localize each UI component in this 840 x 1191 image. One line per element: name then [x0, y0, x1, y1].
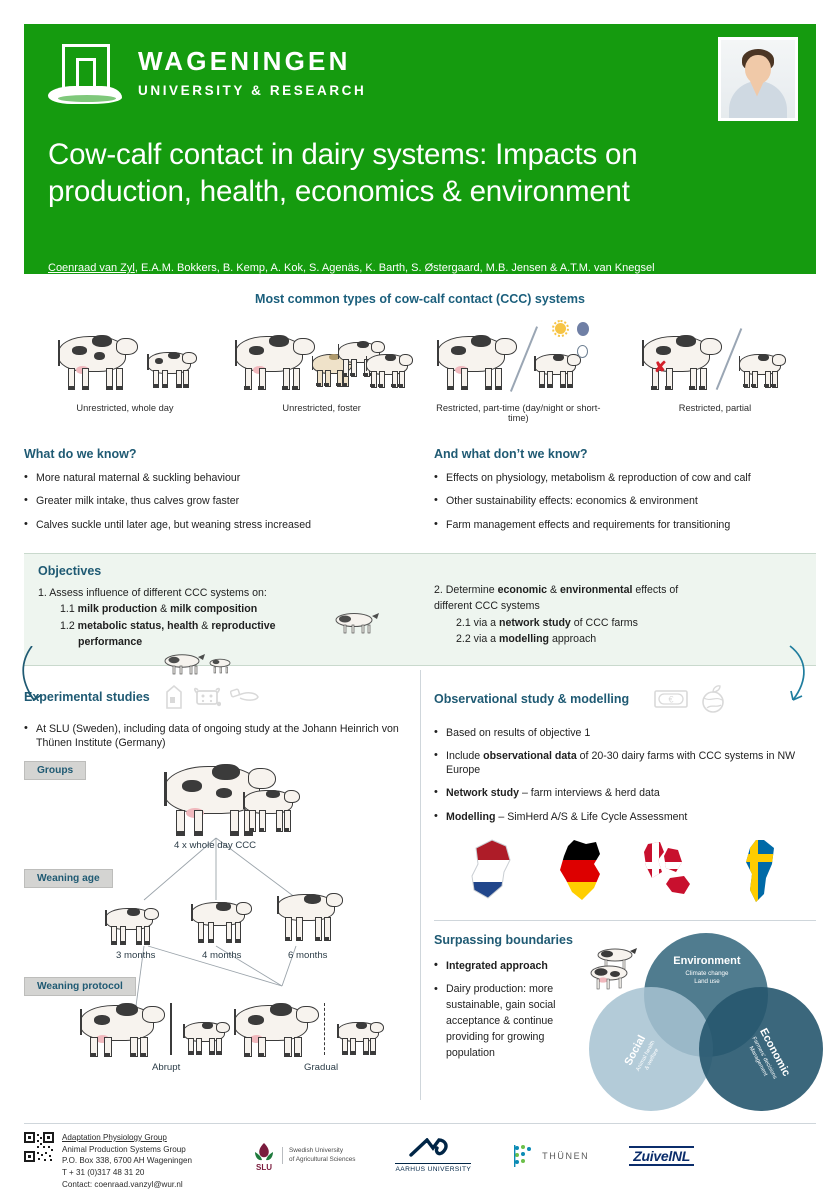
observational-study-title: Observational study & modelling — [434, 692, 629, 706]
surpassing-boundaries-title: Surpassing boundaries — [434, 933, 577, 947]
calf-icon — [274, 890, 344, 948]
list-item: Farm management effects and requirements… — [434, 518, 816, 532]
list-item: Network study – farm interviews & herd d… — [434, 786, 816, 800]
observational-header: Observational study & modelling € — [434, 684, 816, 714]
thunen-logo-text: THÜNEN — [542, 1151, 589, 1161]
denmark-map-flag-icon — [638, 838, 700, 904]
tag-groups: Groups — [24, 761, 86, 780]
cow-icon — [433, 330, 511, 392]
poster-footer: Adaptation Physiology Group Animal Produ… — [24, 1123, 816, 1191]
knowledge-row: What do we know? More natural maternal &… — [24, 447, 816, 541]
cow-front-icon — [193, 685, 221, 709]
ccc-art-2 — [231, 320, 413, 400]
calf-icon — [531, 350, 581, 392]
ccc-caption: Unrestricted, whole day — [34, 403, 216, 413]
cow-icon — [54, 330, 132, 392]
objective-2: 2. Determine economic & environmental ef… — [434, 582, 802, 598]
what-we-dont-know-list: Effects on physiology, metabolism & repr… — [434, 471, 816, 532]
calf-icon — [180, 1018, 232, 1060]
calf-icon — [334, 1018, 386, 1060]
experimental-studies-column: Experimental studies — [24, 670, 420, 1113]
weaning-age-4: 4 months — [202, 950, 241, 961]
experimental-design-diagram: Groups — [24, 760, 410, 1065]
author-portrait — [718, 37, 798, 121]
objective-1-2-cont: performance — [38, 634, 412, 650]
moon-icon — [577, 322, 589, 336]
weaning-age-3: 3 months — [116, 950, 155, 961]
page-title: Cow-calf contact in dairy systems: Impac… — [48, 136, 788, 210]
venn-center-cow-icon — [581, 933, 643, 995]
ccc-item-unrestricted-foster: Unrestricted, foster — [231, 320, 413, 423]
ccc-art-4: ✘ — [624, 320, 806, 400]
what-we-dont-know-title: And what don’t we know? — [434, 447, 816, 461]
partner-logos: SLU Swedish Universityof Agricultural Sc… — [252, 1132, 694, 1173]
objective-2-1: 2.1 via a network study of CCC farms — [434, 615, 802, 631]
list-item: More natural maternal & suckling behavio… — [24, 471, 410, 485]
mini-cow-icon — [328, 611, 384, 635]
list-item: Dairy production: more sustainable, gain… — [434, 982, 577, 1061]
tag-weaning-protocol: Weaning protocol — [24, 977, 136, 996]
observational-study-column: Observational study & modelling € — [420, 670, 816, 1113]
slu-logo-text: Swedish Universityof Agricultural Scienc… — [282, 1147, 355, 1164]
ccc-caption: Restricted, part-time (day/night or shor… — [427, 403, 609, 423]
contact-group-1: Adaptation Physiology Group — [62, 1132, 192, 1144]
cow-icon — [231, 330, 309, 392]
brand-line2: UNIVERSITY & RESEARCH — [138, 74, 366, 98]
objectives-title: Objectives — [38, 564, 412, 578]
brand-line1: WAGENINGEN — [138, 42, 366, 74]
weaning-protocol-gradual: Gradual — [304, 1062, 338, 1073]
country-flags-row — [434, 838, 816, 904]
ccc-systems-row: Unrestricted, whole day — [24, 320, 816, 423]
list-item: Calves suckle until later age, but weani… — [24, 518, 410, 532]
globe-leaf-icon — [698, 684, 728, 714]
objective-1-column: Objectives 1. Assess influence of differ… — [38, 564, 420, 651]
surpassing-boundaries-section: Surpassing boundaries Integrated approac… — [434, 933, 816, 1113]
calf-icon — [144, 348, 196, 392]
author-list: Coenraad van Zyl, E.A.M. Bokkers, B. Kem… — [48, 262, 655, 274]
list-item: Based on results of objective 1 — [434, 726, 816, 740]
sun-icon — [555, 323, 566, 334]
zuivelnl-logo-text: ZuivelNL — [629, 1146, 694, 1166]
netherlands-map-flag-icon — [462, 838, 524, 904]
svg-text:SLU: SLU — [256, 1163, 272, 1171]
euro-banknote-icon: € — [653, 687, 689, 711]
what-we-know-title: What do we know? — [24, 447, 410, 461]
zuivelnl-logo: ZuivelNL — [629, 1146, 694, 1166]
aarhus-university-logo: AARHUS UNIVERSITY — [395, 1138, 471, 1173]
list-item: Other sustainability effects: economics … — [434, 494, 816, 508]
tag-weaning-age: Weaning age — [24, 869, 113, 888]
contact-address: P.O. Box 338, 6700 AH Wageningen — [62, 1155, 192, 1167]
what-we-dont-know-column: And what don’t we know? Effects on physi… — [420, 447, 816, 541]
objective-2-cont: different CCC systems — [434, 598, 802, 614]
group-label: 4 x whole day CCC — [174, 840, 256, 851]
experimental-bullets: At SLU (Sweden), including data of ongoi… — [24, 722, 410, 751]
list-item: Integrated approach — [434, 959, 577, 973]
abrupt-barrier-icon — [170, 1003, 172, 1055]
calf-icon — [102, 904, 162, 948]
list-item: Modelling – SimHerd A/S & Life Cycle Ass… — [434, 810, 816, 824]
experimental-studies-title: Experimental studies — [24, 690, 150, 704]
wageningen-logo-icon — [48, 42, 122, 108]
objective-2-column: 2. Determine economic & environmental ef… — [420, 564, 802, 651]
what-we-know-column: What do we know? More natural maternal &… — [24, 447, 420, 541]
other-authors: , E.A.M. Bokkers, B. Kemp, A. Kok, S. Ag… — [135, 262, 655, 274]
brand-text: WAGENINGEN UNIVERSITY & RESEARCH — [138, 42, 366, 98]
cow-icon — [76, 1000, 162, 1060]
clock-icon — [577, 345, 588, 358]
what-we-know-list: More natural maternal & suckling behavio… — [24, 471, 410, 532]
calf-icon — [363, 350, 413, 392]
calf-icon — [240, 786, 302, 836]
aarhus-logo-text: AARHUS UNIVERSITY — [395, 1163, 471, 1173]
germany-map-flag-icon — [550, 838, 612, 904]
blood-tube-icon — [230, 687, 260, 707]
list-item: Effects on physiology, metabolism & repr… — [434, 471, 816, 485]
poster-header: WAGENINGEN UNIVERSITY & RESEARCH Cow-cal… — [24, 24, 816, 274]
ccc-item-restricted-partial: ✘ — [624, 320, 806, 423]
weaning-age-6: 6 months — [288, 950, 327, 961]
list-item: At SLU (Sweden), including data of ongoi… — [24, 722, 410, 751]
objectives-section: Objectives 1. Assess influence of differ… — [24, 553, 816, 666]
svg-text:€: € — [669, 694, 674, 704]
cow-icon — [230, 1000, 316, 1060]
observational-bullets: Based on results of objective 1 Include … — [434, 726, 816, 824]
poster-root: WAGENINGEN UNIVERSITY & RESEARCH Cow-cal… — [24, 24, 816, 1169]
slu-logo: SLU Swedish Universityof Agricultural Sc… — [252, 1141, 355, 1171]
ccc-art-3 — [427, 320, 609, 400]
sweden-map-flag-icon — [726, 838, 788, 904]
contact-block: Adaptation Physiology Group Animal Produ… — [62, 1132, 192, 1191]
slu-mark-icon: SLU — [252, 1141, 276, 1171]
no-suckling-icon: ✘ — [654, 360, 667, 375]
boundaries-list: Integrated approach Dairy production: mo… — [434, 959, 577, 1062]
calf-icon — [188, 898, 254, 948]
section-divider — [434, 920, 816, 921]
ccc-art-1 — [34, 320, 216, 400]
objective-2-2: 2.2 via a modelling approach — [434, 631, 802, 647]
wageningen-logo: WAGENINGEN UNIVERSITY & RESEARCH — [48, 42, 366, 108]
ccc-caption: Restricted, partial — [624, 403, 806, 413]
contact-email: Contact: coenraad.vanzyl@wur.nl — [62, 1179, 192, 1191]
qr-code-icon — [24, 1132, 54, 1162]
contact-phone: T + 31 (0)317 48 31 20 — [62, 1167, 192, 1179]
first-author: Coenraad van Zyl — [48, 262, 135, 274]
thunen-mark-icon — [511, 1144, 535, 1168]
venn-label-environment: Environment Climate changeLand use — [659, 951, 755, 986]
list-item: Include observational data of 20-30 dair… — [434, 749, 816, 778]
list-item: Greater milk intake, thus calves grow fa… — [24, 494, 410, 508]
cow-icon: ✘ — [638, 330, 716, 392]
poster-body: Most common types of cow-calf contact (C… — [24, 292, 816, 1191]
ccc-item-unrestricted-whole-day: Unrestricted, whole day — [34, 320, 216, 423]
boundaries-text: Surpassing boundaries Integrated approac… — [434, 933, 577, 1113]
ccc-caption: Unrestricted, foster — [231, 403, 413, 413]
gradual-barrier-icon — [324, 1003, 325, 1055]
experimental-icons — [164, 684, 260, 710]
ccc-section-heading: Most common types of cow-calf contact (C… — [24, 292, 816, 306]
aarhus-mark-icon — [407, 1138, 459, 1158]
sustainability-venn-diagram: Environment Climate changeLand use Socia… — [581, 933, 816, 1113]
thunen-logo: THÜNEN — [511, 1144, 589, 1168]
observational-icons: € — [653, 684, 728, 714]
objective-1: 1. Assess influence of different CCC sys… — [38, 585, 412, 601]
studies-row: Experimental studies — [24, 670, 816, 1113]
weaning-protocol-abrupt: Abrupt — [152, 1062, 180, 1073]
milk-carton-icon — [164, 684, 184, 710]
experimental-header: Experimental studies — [24, 684, 410, 710]
contact-group-2: Animal Production Systems Group — [62, 1144, 192, 1156]
calf-icon — [736, 350, 786, 392]
ccc-item-restricted-part-time: Restricted, part-time (day/night or shor… — [427, 320, 609, 423]
